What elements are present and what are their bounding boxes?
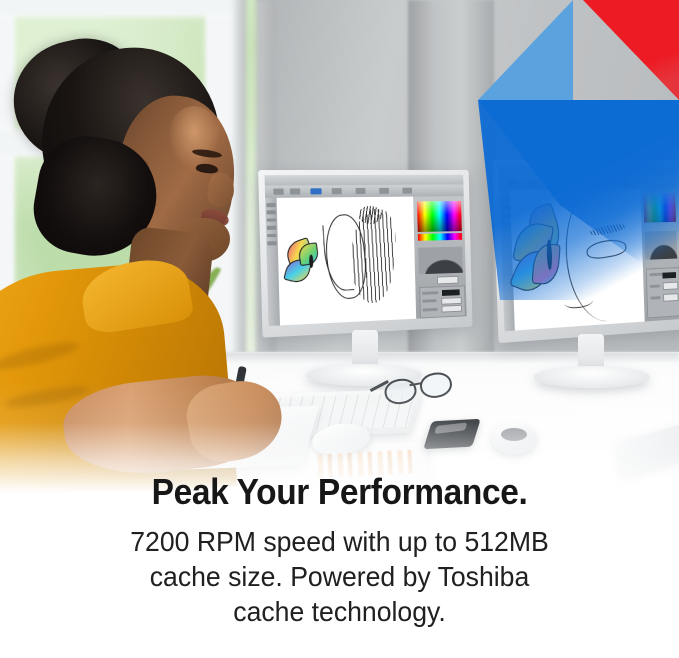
artwork-canvas[interactable] — [510, 188, 644, 330]
monitor-right — [492, 160, 679, 343]
layer-label — [650, 285, 661, 289]
layer-thumbnail[interactable] — [663, 272, 676, 279]
tool-icon-active[interactable] — [311, 188, 321, 194]
color-gradient-overlay — [643, 193, 676, 223]
tool-icon[interactable] — [331, 188, 341, 194]
tool-icon[interactable] — [403, 187, 413, 193]
tool-icon[interactable] — [273, 188, 284, 194]
lifestyle-photo — [0, 0, 679, 500]
color-picker-panel[interactable] — [417, 201, 462, 232]
butterfly-body — [309, 255, 314, 268]
layer-label — [423, 299, 436, 303]
app-right-panels — [640, 188, 679, 321]
layer-field[interactable] — [663, 293, 679, 302]
tool-icon[interactable] — [379, 188, 389, 194]
face-highlight — [168, 106, 220, 170]
butterfly-illustration — [285, 240, 328, 284]
layers-panel — [419, 285, 466, 318]
palette-tool[interactable] — [502, 222, 510, 226]
body-line-1: 7200 RPM speed with up to 512MB — [17, 524, 662, 559]
tool-icon[interactable] — [570, 179, 579, 186]
body-line-3: cache technology. — [17, 594, 662, 629]
layers-panel — [646, 267, 679, 318]
layer-field[interactable] — [442, 305, 462, 313]
layer-label — [649, 273, 662, 277]
histogram-panel — [644, 230, 677, 260]
smartphone[interactable] — [423, 419, 481, 449]
marketing-copy: Peak Your Performance. 7200 RPM speed wi… — [0, 470, 679, 658]
histogram-curve — [418, 255, 463, 275]
palette-tool[interactable] — [501, 205, 509, 209]
phone-screen-glare — [434, 422, 467, 434]
layer-label — [423, 291, 439, 295]
monitor-right-stand-base — [534, 366, 650, 388]
headline: Peak Your Performance. — [24, 470, 655, 514]
color-strip[interactable] — [418, 233, 462, 240]
app-right-panels — [414, 196, 467, 319]
cup-opening — [501, 428, 527, 441]
tool-icon[interactable] — [526, 179, 536, 186]
histogram-curve — [645, 239, 677, 261]
butterfly-illustration — [513, 206, 577, 297]
product-promo-banner: Peak Your Performance. 7200 RPM speed wi… — [0, 0, 679, 658]
tool-icon-active[interactable] — [548, 179, 557, 186]
layer-field[interactable] — [662, 282, 678, 290]
tool-icon[interactable] — [290, 188, 301, 194]
color-picker-panel[interactable] — [643, 193, 676, 223]
layer-thumbnail[interactable] — [442, 289, 460, 296]
body-copy: 7200 RPM speed with up to 512MB cache si… — [17, 524, 662, 629]
panel-value-field[interactable] — [437, 276, 459, 285]
layer-label — [423, 307, 437, 311]
monitor-screen — [265, 175, 467, 326]
color-gradient-overlay — [417, 201, 462, 232]
monitor-left — [258, 170, 472, 338]
palette-tool[interactable] — [501, 197, 509, 201]
palette-tool[interactable] — [502, 214, 510, 218]
monitor-screen — [499, 165, 679, 331]
body-line-2: cache size. Powered by Toshiba — [17, 559, 662, 594]
window-frame-top — [0, 0, 238, 16]
histogram-panel — [418, 247, 463, 275]
layer-field[interactable] — [441, 297, 461, 304]
coffee-cup — [492, 424, 536, 454]
tool-icon[interactable] — [355, 188, 365, 194]
tool-icon[interactable] — [509, 179, 519, 186]
layer-label — [650, 296, 661, 300]
artwork-canvas[interactable] — [277, 196, 417, 325]
